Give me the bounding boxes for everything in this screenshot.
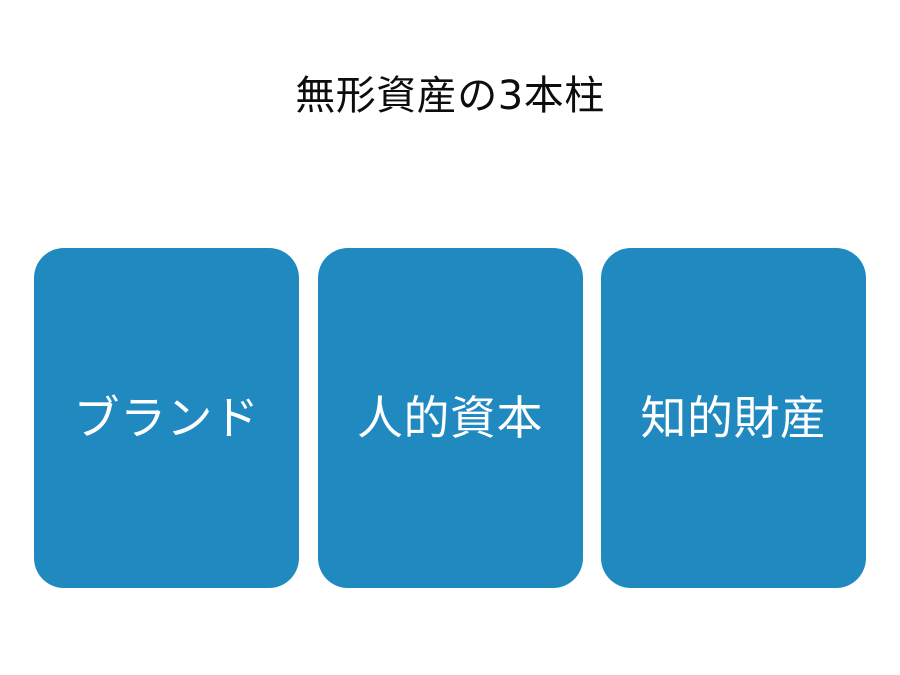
pillar-card-intellectual-property[interactable]: 知的財産 xyxy=(601,248,866,588)
pillar-card-human-capital-label: 人的資本 xyxy=(357,392,543,444)
pillar-card-brand-label: ブランド xyxy=(74,392,260,444)
pillar-card-brand[interactable]: ブランド xyxy=(34,248,299,588)
slide-canvas: 無形資産の3本柱 ブランド 人的資本 知的財産 xyxy=(0,0,900,675)
pillar-card-human-capital[interactable]: 人的資本 xyxy=(318,248,583,588)
page-title: 無形資産の3本柱 xyxy=(0,72,900,120)
pillar-card-intellectual-property-label: 知的財産 xyxy=(641,392,827,444)
pillar-card-row: ブランド 人的資本 知的財産 xyxy=(34,248,866,588)
